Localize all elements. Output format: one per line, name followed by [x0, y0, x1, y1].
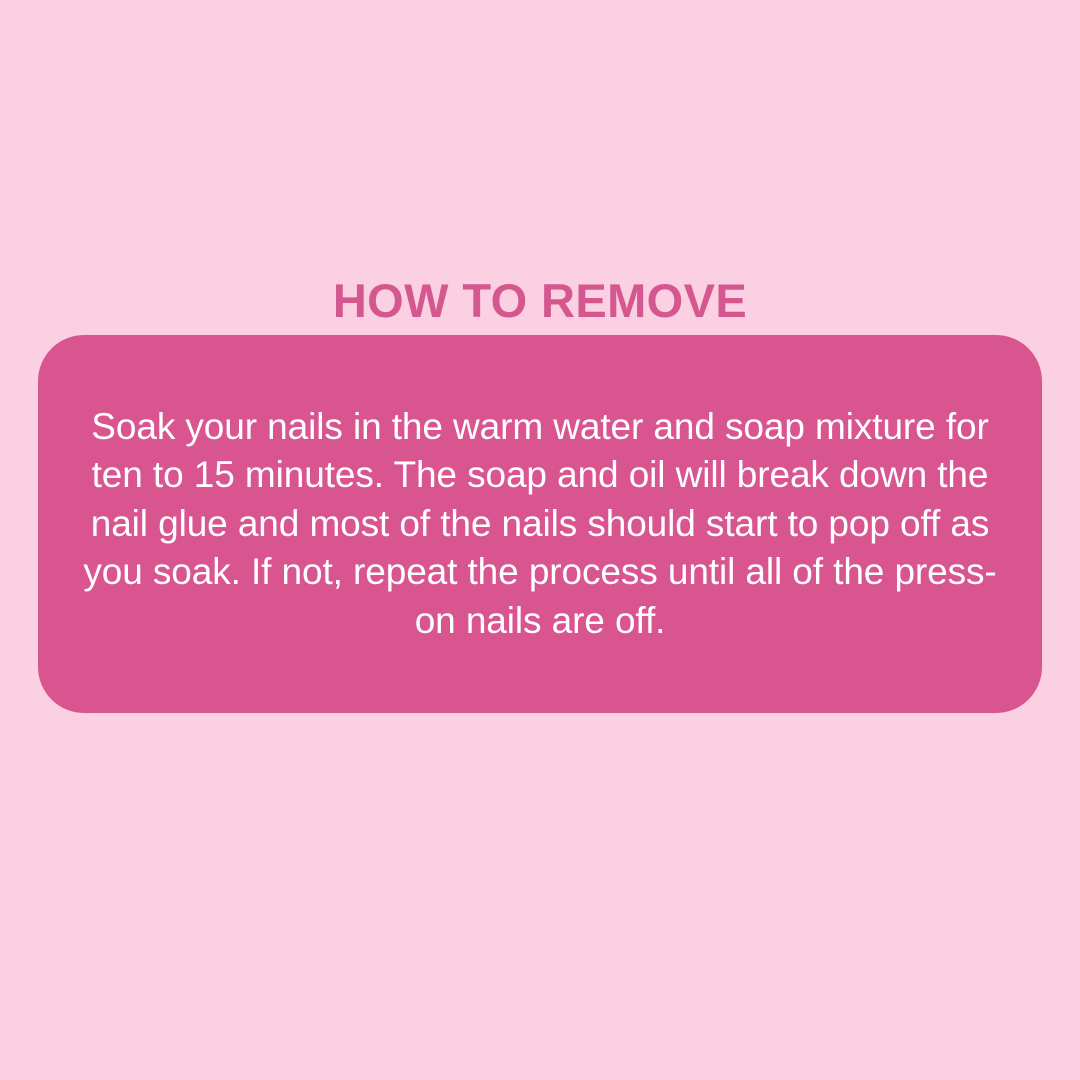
poster-canvas: HOW TO REMOVE Soak your nails in the war… [0, 0, 1080, 1080]
page-title: HOW TO REMOVE [333, 277, 747, 339]
content-stack: HOW TO REMOVE Soak your nails in the war… [0, 0, 1080, 1080]
instruction-card: Soak your nails in the warm water and so… [38, 335, 1042, 713]
instruction-text: Soak your nails in the warm water and so… [58, 403, 1022, 646]
